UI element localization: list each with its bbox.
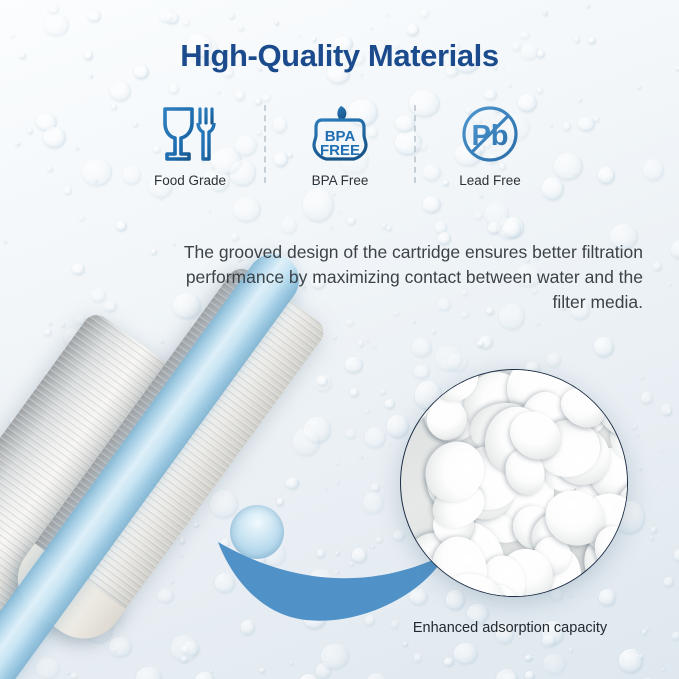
water-droplet — [593, 116, 599, 123]
water-droplet — [578, 98, 582, 102]
water-droplet — [380, 389, 386, 395]
water-droplet — [637, 85, 641, 89]
water-droplet — [547, 353, 561, 368]
water-droplet — [229, 13, 235, 19]
water-droplet — [335, 570, 338, 574]
water-droplet — [169, 84, 179, 95]
water-droplet — [171, 580, 174, 583]
water-droplet — [371, 483, 380, 491]
water-droplet — [217, 90, 221, 93]
water-droplet — [662, 668, 665, 671]
water-droplet — [91, 289, 106, 303]
water-droplet — [321, 644, 349, 669]
water-droplet — [79, 216, 85, 221]
water-droplet — [346, 319, 353, 326]
water-droplet — [330, 226, 333, 229]
water-droplet — [366, 339, 369, 342]
water-droplet — [653, 262, 662, 272]
water-droplet — [180, 538, 185, 544]
water-droplet — [537, 322, 540, 325]
water-droplet — [275, 21, 279, 25]
water-droplet — [194, 523, 199, 527]
water-droplet — [651, 527, 657, 533]
water-droplet — [542, 635, 556, 647]
water-droplet — [345, 357, 363, 374]
water-droplet — [343, 600, 346, 603]
water-droplet — [47, 166, 53, 172]
water-droplet — [67, 671, 70, 674]
water-droplet — [95, 179, 98, 182]
water-droplet — [235, 90, 246, 101]
certification-badge-row: Food Grade BPA FREE — [120, 103, 560, 201]
water-droplet — [336, 551, 340, 555]
water-droplet — [641, 392, 653, 404]
water-droplet — [667, 410, 672, 414]
water-droplet — [304, 609, 327, 629]
water-droplet — [412, 338, 432, 357]
water-droplet — [563, 122, 571, 131]
water-droplet — [543, 654, 566, 674]
water-droplet — [642, 629, 648, 635]
badge-label: Lead Free — [459, 173, 521, 188]
water-droplet — [403, 642, 408, 647]
badge-food-grade[interactable]: Food Grade — [120, 103, 260, 188]
water-droplet — [504, 673, 518, 679]
water-droplet — [44, 329, 52, 336]
water-droplet — [360, 455, 363, 458]
water-droplet — [4, 240, 7, 243]
water-droplet — [484, 90, 496, 101]
water-droplet — [671, 240, 679, 259]
water-droplet — [664, 577, 674, 587]
water-droplet — [260, 668, 265, 673]
water-droplet — [61, 322, 65, 327]
water-droplet — [43, 127, 66, 148]
water-droplet — [109, 637, 132, 657]
water-droplet — [641, 376, 644, 379]
water-droplet — [444, 658, 454, 667]
bpa-icon-text-line2: FREE — [320, 142, 360, 159]
bpa-free-badge-icon: BPA FREE — [310, 103, 370, 165]
water-droplet — [363, 492, 383, 514]
water-droplet — [525, 655, 532, 661]
water-droplet — [643, 159, 664, 181]
water-droplet — [89, 74, 92, 78]
water-droplet — [277, 498, 284, 506]
water-droplet — [573, 173, 576, 176]
water-droplet — [672, 632, 679, 640]
resin-pellets-inset — [400, 369, 628, 597]
water-droplet — [350, 562, 354, 566]
water-droplet — [639, 467, 642, 470]
water-droplet — [474, 211, 483, 220]
water-droplet — [366, 673, 388, 679]
water-droplet — [241, 620, 255, 635]
water-droplet — [594, 337, 614, 357]
water-droplet — [336, 480, 339, 483]
badge-divider — [414, 105, 416, 183]
water-droplet — [158, 589, 174, 603]
water-droplet — [44, 14, 68, 36]
water-droplet — [371, 545, 375, 549]
water-droplet — [151, 249, 157, 255]
water-droplet — [537, 87, 544, 94]
water-droplet — [508, 84, 512, 87]
water-droplet — [372, 344, 377, 349]
product-feature-image: High-Quality Materials — [0, 0, 679, 679]
water-droplet — [72, 263, 85, 275]
water-droplet — [76, 147, 79, 151]
water-droplet — [208, 209, 211, 212]
water-droplet — [347, 217, 356, 225]
water-droplet — [49, 322, 52, 325]
water-droplet — [660, 449, 664, 453]
water-droplet — [116, 221, 127, 231]
water-droplet — [587, 4, 591, 8]
water-droplet — [281, 217, 297, 234]
water-droplet — [284, 587, 302, 606]
water-droplet — [393, 530, 405, 540]
water-droplet — [298, 34, 302, 37]
water-droplet — [136, 667, 162, 679]
water-droplet — [210, 490, 238, 518]
water-droplet — [655, 485, 658, 488]
water-droplet — [525, 671, 535, 679]
water-droplet — [308, 569, 334, 597]
water-droplet — [350, 388, 359, 398]
water-droplet — [414, 653, 423, 663]
water-droplet — [290, 661, 293, 665]
water-droplet — [295, 478, 298, 482]
water-droplet — [110, 81, 131, 102]
water-droplet — [333, 336, 337, 339]
badge-lead-free[interactable]: Pb Lead Free — [420, 103, 560, 188]
water-droplet — [636, 434, 639, 437]
water-droplet — [293, 428, 320, 457]
page-title: High-Quality Materials — [0, 38, 679, 74]
water-droplet — [376, 537, 383, 543]
water-droplet — [358, 340, 364, 347]
water-droplet — [111, 104, 118, 111]
water-droplet — [413, 320, 417, 323]
water-droplet — [104, 301, 117, 312]
badge-divider — [264, 105, 266, 183]
water-droplet — [336, 462, 339, 465]
wine-glass-fork-icon — [159, 103, 221, 165]
water-droplet — [352, 548, 367, 563]
water-droplet — [431, 329, 436, 334]
water-droplet — [598, 167, 615, 184]
water-droplet — [370, 27, 373, 30]
water-droplet — [498, 218, 522, 239]
water-droplet — [365, 427, 386, 449]
water-droplet — [339, 211, 342, 214]
water-droplet — [650, 536, 654, 540]
water-droplet — [639, 654, 644, 659]
water-droplet — [181, 656, 188, 662]
water-droplet — [365, 615, 375, 626]
water-droplet — [407, 24, 419, 36]
water-droplet — [262, 94, 271, 102]
water-droplet — [667, 282, 672, 286]
water-droplet — [388, 442, 391, 445]
water-droplet — [569, 648, 573, 652]
water-droplet — [64, 186, 72, 195]
badge-bpa-free[interactable]: BPA FREE BPA Free — [270, 103, 410, 188]
no-lead-pb-icon: Pb — [460, 103, 520, 165]
water-droplet — [180, 554, 183, 557]
badge-label: Food Grade — [154, 173, 226, 188]
water-droplet — [325, 487, 329, 491]
water-droplet — [221, 538, 230, 548]
water-droplet — [166, 12, 179, 24]
water-droplet — [454, 643, 478, 664]
water-droplet — [183, 19, 190, 26]
water-droplet — [633, 425, 637, 429]
water-droplet — [16, 142, 20, 146]
water-droplet — [251, 582, 263, 592]
water-droplet — [420, 9, 430, 17]
water-droplet — [619, 649, 643, 673]
water-droplet — [317, 549, 325, 558]
water-droplet — [385, 399, 396, 409]
water-droplet — [674, 549, 679, 562]
water-droplet — [387, 13, 391, 17]
inset-caption: Enhanced adsorption capacity — [385, 620, 635, 636]
water-droplet — [71, 673, 78, 679]
water-droplet — [28, 128, 34, 134]
water-droplet — [366, 410, 370, 414]
water-droplet — [48, 4, 59, 14]
water-droplet — [215, 573, 236, 593]
description-paragraph: The grooved design of the cartridge ensu… — [171, 240, 643, 315]
water-droplet — [268, 600, 273, 605]
water-droplet — [239, 26, 244, 31]
water-droplet — [88, 10, 101, 23]
water-droplet — [386, 226, 391, 231]
water-droplet — [161, 340, 165, 343]
badge-label: BPA Free — [312, 173, 369, 188]
water-droplet — [346, 429, 355, 439]
water-droplet — [36, 658, 60, 679]
water-droplet — [113, 648, 117, 653]
